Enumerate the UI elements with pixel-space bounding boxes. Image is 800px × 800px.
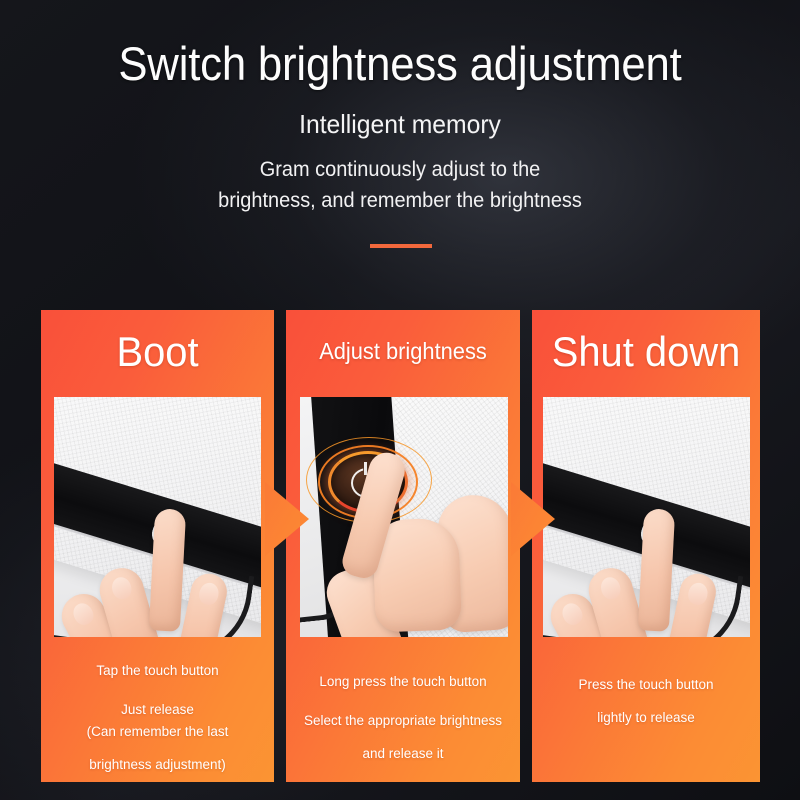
fingernail-icon [109,575,133,601]
description-line-1: Gram continuously adjust to the [260,158,541,181]
laptop-photo-illustration [54,397,261,637]
step-caption-shut-down: Press the touch button lightly to releas… [538,676,754,726]
step-card-adjust-brightness[interactable]: Adjust brightness [286,310,520,782]
caption-line: Press the touch button [538,676,754,693]
description-line-2: brightness, and remember the brightness [218,189,582,212]
fingernail-icon [598,575,622,601]
step-photo-boot [54,397,261,637]
hand-illustration [340,455,508,637]
page-description: Gram continuously adjust to the brightne… [20,140,780,216]
fingernail-icon [686,581,709,606]
step-caption-adjust-brightness: Long press the touch button Select the a… [292,673,514,762]
caption-line: Just release [47,701,268,718]
step-card-boot[interactable]: Boot Tap the touch but [41,310,274,782]
step-title-boot: Boot [47,326,268,378]
step-photo-shut-down [543,397,750,637]
header-divider-rule [370,244,432,248]
header-block: Switch brightness adjustment Intelligent… [0,0,800,216]
step-photo-adjust-brightness [300,397,508,637]
index-finger-icon [149,508,186,631]
step-caption-boot: Tap the touch button Just release (Can r… [47,662,268,773]
fingernail-icon [70,600,97,628]
index-finger-icon [638,508,675,631]
page-title: Switch brightness adjustment [28,0,772,92]
fingernail-icon [197,581,220,606]
caption-line: Select the appropriate brightness [292,712,514,729]
page-subtitle: Intelligent memory [20,92,780,140]
hand-illustration [80,515,244,637]
infographic-page: Switch brightness adjustment Intelligent… [0,0,800,800]
steps-row: Boot Tap the touch but [41,310,760,782]
caption-line: (Can remember the last [47,723,268,740]
laptop-photo-illustration [543,397,750,637]
caption-line: Tap the touch button [47,662,268,679]
caption-line: Long press the touch button [292,673,514,690]
fingernail-icon [559,600,586,628]
step-card-shut-down[interactable]: Shut down Press the to [532,310,760,782]
step-title-shut-down: Shut down [538,326,755,378]
caption-line: lightly to release [538,709,754,726]
caption-line: brightness adjustment) [47,756,268,773]
caption-line: and release it [292,745,514,762]
step-title-adjust-brightness: Adjust brightness [292,336,514,366]
touch-button-closeup-illustration [300,397,508,637]
hand-illustration [569,515,733,637]
